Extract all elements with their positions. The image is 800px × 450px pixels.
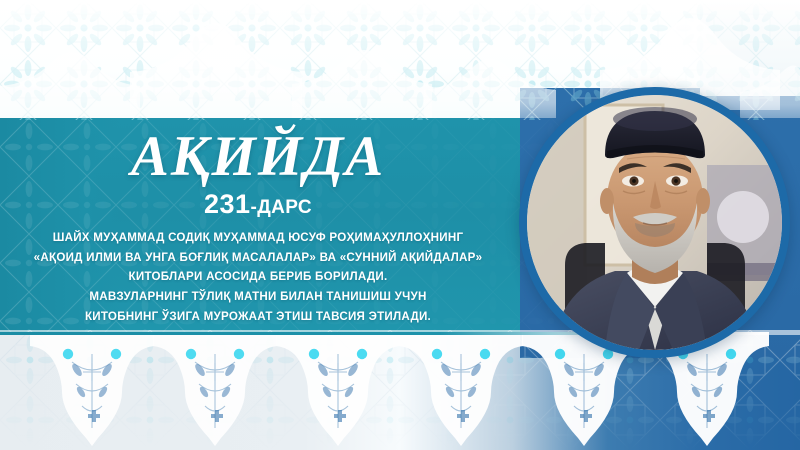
portrait-avatar	[519, 87, 790, 358]
title-block: АҚИЙДА 231-ДАРС	[0, 126, 516, 220]
description-block: ШАЙХ МУҲАММАД СОДИҚ МУҲАММАД ЮСУФ РОҲИМА…	[0, 228, 516, 327]
poster-canvas: АҚИЙДА 231-ДАРС ШАЙХ МУҲАММАД СОДИҚ МУҲА…	[0, 0, 800, 450]
portrait-ring	[519, 87, 790, 358]
lesson-label: 231-ДАРС	[0, 189, 516, 220]
description-line: ШАЙХ МУҲАММАД СОДИҚ МУҲАММАД ЮСУФ РОҲИМА…	[0, 228, 516, 248]
lesson-number: 231	[204, 189, 251, 219]
page-title: АҚИЙДА	[0, 126, 516, 188]
description-line: КИТОБНИНГ ЎЗИГА МУРОЖААТ ЭТИШ ТАВСИЯ ЭТИ…	[0, 307, 516, 327]
lesson-suffix: -ДАРС	[251, 197, 313, 218]
description-line: КИТОБЛАРИ АСОСИДА БЕРИБ БОРИЛАДИ.	[0, 267, 516, 287]
description-line: «АҚОИД ИЛМИ ВА УНГА БОҒЛИҚ МАСАЛАЛАР» ВА…	[0, 248, 516, 268]
scholar-photo	[527, 95, 782, 350]
description-line: МАВЗУЛАРНИНГ ТЎЛИҚ МАТНИ БИЛАН ТАНИШИШ У…	[0, 287, 516, 307]
